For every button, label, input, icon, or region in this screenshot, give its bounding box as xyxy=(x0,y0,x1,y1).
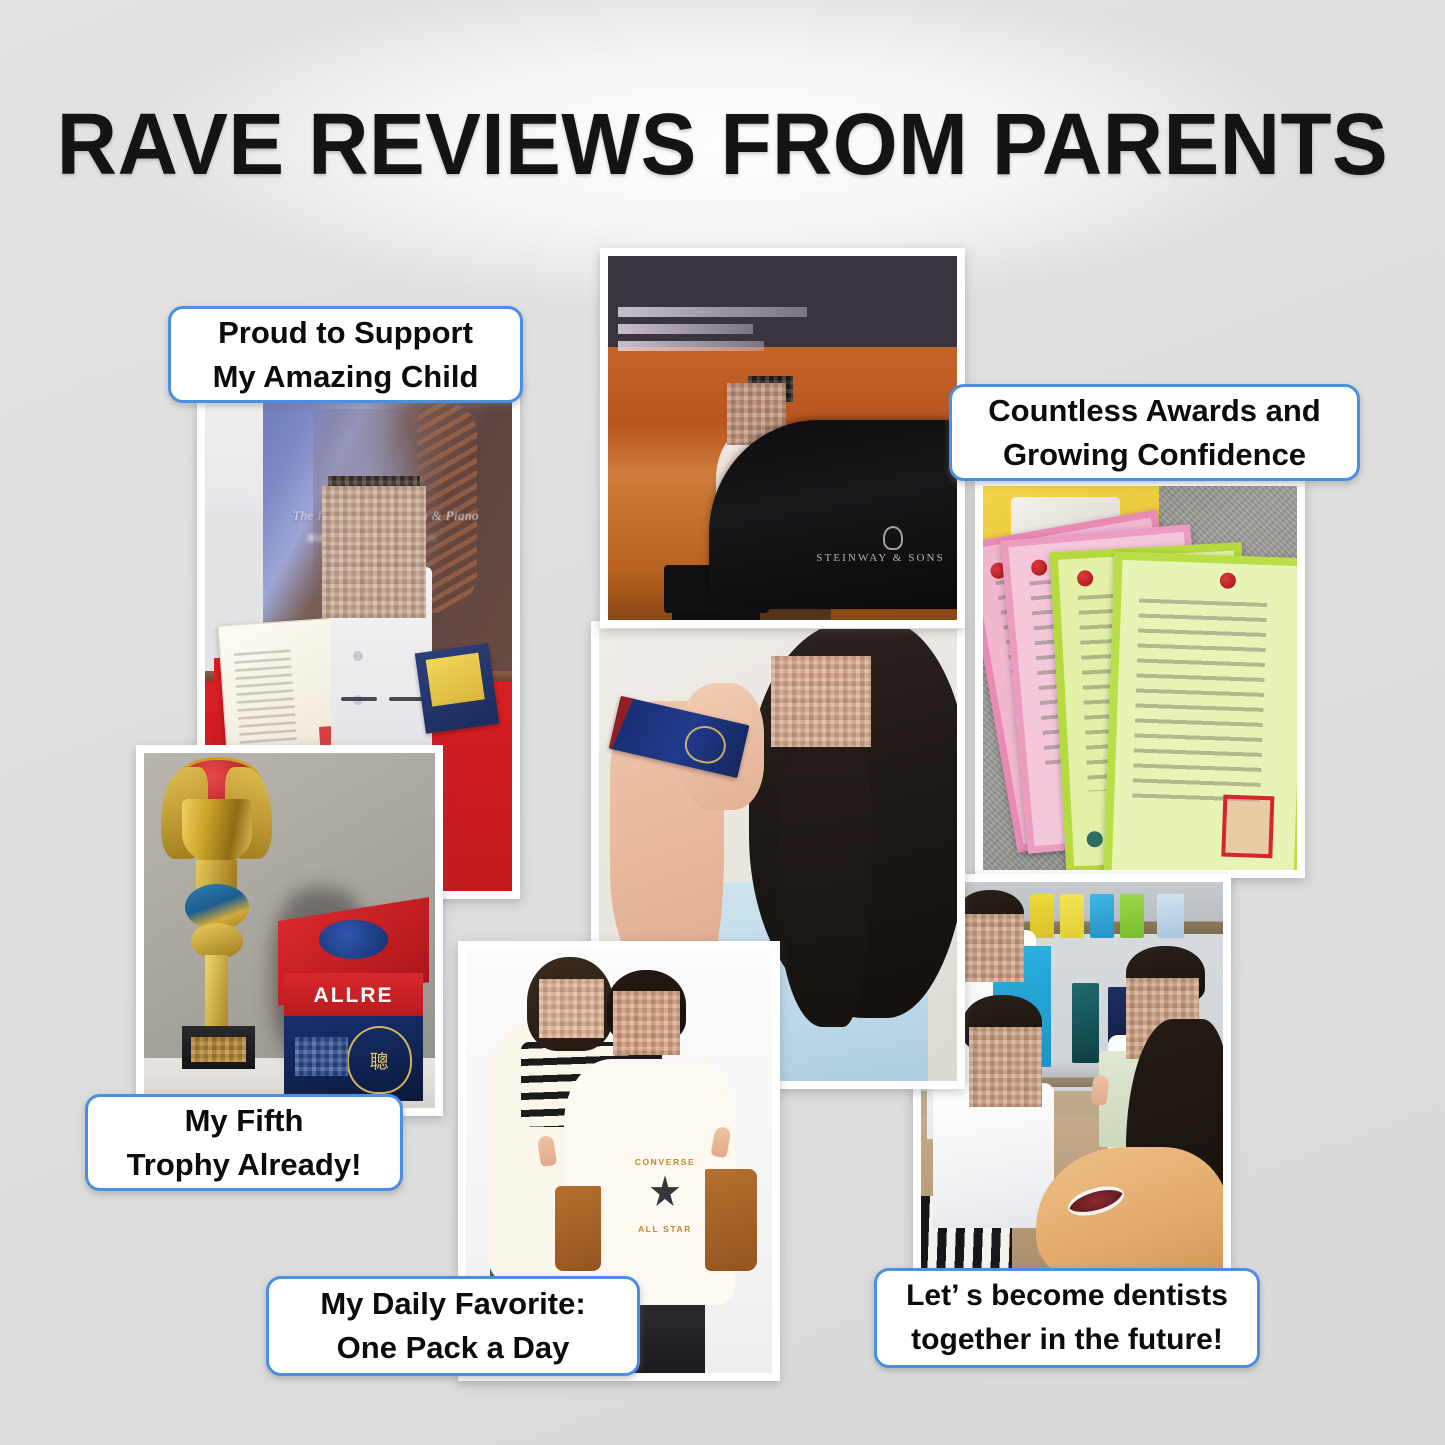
caption-line-1: Countless Awards and xyxy=(988,389,1320,433)
product-name-label: ALLRE xyxy=(314,984,394,1008)
caption-line-1: Proud to Support xyxy=(218,311,473,355)
product-box-white xyxy=(1157,894,1184,938)
certificate-seal xyxy=(1031,559,1048,576)
converse-logo: CONVERSE ALL STAR xyxy=(632,1158,697,1232)
product-box-yellow xyxy=(1030,894,1054,938)
converse-wordmark-bottom: ALL STAR xyxy=(632,1224,697,1234)
caption-line-2: My Amazing Child xyxy=(213,355,479,399)
trophy-base-plate-pixelated xyxy=(191,1037,246,1062)
trophy-column xyxy=(205,955,228,1033)
product-bottle-teal xyxy=(1072,983,1099,1063)
caption-line-2: Growing Confidence xyxy=(1003,433,1306,477)
photo-certificates xyxy=(975,478,1305,878)
certificate-seal xyxy=(1220,573,1237,590)
caption-become-dentists: Let’ s become dentists together in the f… xyxy=(874,1268,1260,1368)
caption-line-2: Trophy Already! xyxy=(127,1143,362,1187)
product-box-blue xyxy=(1090,894,1114,938)
boy-sleeve-left xyxy=(555,1186,601,1271)
product-mascot-badge xyxy=(319,920,389,959)
product-box-yellow-2 xyxy=(1060,894,1084,938)
certificate-seal xyxy=(1077,571,1094,588)
photo-trophy-and-product: ALLRE 聰 xyxy=(136,745,443,1116)
tall-child-face-pixelated xyxy=(960,914,1023,982)
girl-face-pixelated xyxy=(539,979,603,1038)
piano-brand-label: STEINWAY & SONS xyxy=(816,552,944,564)
mannequin-open-mouth xyxy=(1064,1180,1127,1221)
caption-countless-awards: Countless Awards and Growing Confidence xyxy=(949,384,1360,481)
caption-fifth-trophy: My Fifth Trophy Already! xyxy=(85,1094,403,1191)
page-title: RAVE REVIEWS FROM PARENTS xyxy=(29,97,1416,193)
caption-daily-favorite: My Daily Favorite: One Pack a Day xyxy=(266,1276,640,1376)
child-face-pixelated xyxy=(322,486,426,618)
certificate-text-lines xyxy=(1132,598,1266,804)
trophy-cup xyxy=(182,799,252,863)
certificate-text-lines xyxy=(234,650,297,745)
certificate-green-2 xyxy=(1103,552,1297,870)
grand-piano: STEINWAY & SONS xyxy=(709,420,957,609)
certificate-seal xyxy=(1087,831,1104,848)
converse-wordmark-top: CONVERSE xyxy=(632,1157,697,1167)
product-spec-text-pixelated xyxy=(295,1037,347,1076)
small-child-face-pixelated xyxy=(969,1027,1041,1107)
caption-line-1: My Fifth xyxy=(185,1099,304,1143)
stage-text-line-3 xyxy=(618,341,764,351)
caption-line-2: One Pack a Day xyxy=(337,1326,570,1370)
boy-face-pixelated xyxy=(613,991,680,1055)
stage-text-line-2 xyxy=(618,324,752,334)
steinway-lyre-icon xyxy=(883,526,903,550)
caption-line-1: Let’ s become dentists xyxy=(906,1274,1228,1318)
stage-text-line-1 xyxy=(618,307,806,317)
photo-trophy-and-product-image: ALLRE 聰 xyxy=(144,753,435,1108)
girl-hair-front-strand xyxy=(778,747,871,1027)
converse-star-icon xyxy=(650,1175,680,1209)
caption-line-1: My Daily Favorite: xyxy=(320,1282,585,1326)
product-char-label: 聰 xyxy=(370,1047,389,1074)
poster-root: RAVE REVIEWS FROM PARENTS The Internatio… xyxy=(0,0,1445,1445)
award-plaque xyxy=(415,643,499,733)
photo-piano-recital-image: STEINWAY & SONS xyxy=(608,256,957,620)
boy-sleeve-right xyxy=(705,1169,757,1271)
photo-dentist-kids-image xyxy=(921,882,1223,1284)
product-name-band: ALLRE xyxy=(284,973,424,1019)
dental-training-mannequin xyxy=(1036,1147,1223,1284)
trophy-knop xyxy=(191,923,243,959)
product-char-circle: 聰 xyxy=(347,1026,412,1094)
caption-line-2: together in the future! xyxy=(911,1318,1223,1362)
certificate-red-stamp xyxy=(1220,795,1274,858)
photo-certificates-image xyxy=(983,486,1297,870)
photo-piano-recital: STEINWAY & SONS xyxy=(600,248,965,628)
product-box-green xyxy=(1120,894,1144,938)
girl-face-pixelated xyxy=(771,656,871,746)
caption-proud-to-support: Proud to Support My Amazing Child xyxy=(168,306,523,403)
